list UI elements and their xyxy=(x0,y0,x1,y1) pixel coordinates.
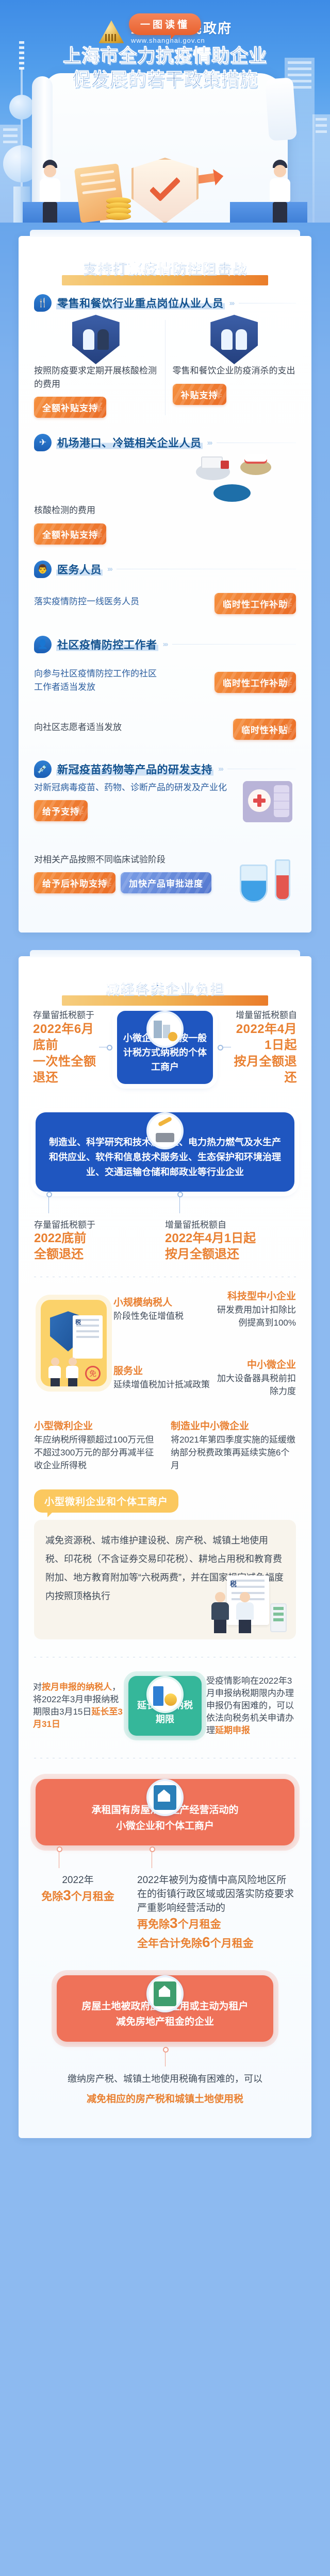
highlight-text: 延期申报 xyxy=(215,1725,250,1735)
robot-arm-icon xyxy=(146,1112,184,1149)
block-vat-industries: 制造业、科学研究和技术服务业、电力热力燃气及水生产和供应业、软件和信息技术服务业… xyxy=(19,1086,311,1262)
value-text: 一次性全额退还 xyxy=(33,1054,97,1086)
property-tax-note: 缴纳房产税、城镇土地使用税确有困难的，可以 减免相应的房产税和城镇土地使用税 xyxy=(19,2042,311,2107)
pill-label: 临时性补贴 xyxy=(241,725,288,735)
subsidy-pill: 临时性补贴 ¥ xyxy=(233,719,296,740)
lab-flask-illustration xyxy=(234,853,296,917)
group-retail-catering: 🍴 零售和餐饮行业重点岗位从业人员 ››› xyxy=(19,281,311,312)
approval-pill: 加快产品审批进度 xyxy=(121,872,211,893)
group-items: 核酸检测的费用 全额补贴支持 ¥ xyxy=(19,451,311,547)
quad-item-tech-sme: 科技型中小企业 研发费用加计扣除比例提高到100% xyxy=(217,1289,296,1329)
group-heading: 机场港口、冷链相关企业人员 xyxy=(56,435,203,450)
filing-left-info: 对按月申报的纳税人，将2022年3月申报纳税期限由3月15日延长至3月31日 xyxy=(33,1681,124,1730)
subsidy-pill: 全额补贴支持 ¥ xyxy=(34,523,106,545)
pill-label: 加快产品审批进度 xyxy=(129,879,203,889)
community-worker-icon: 👤 xyxy=(34,636,52,653)
value-text: 按月全额退还 xyxy=(233,1054,297,1086)
list-item: 零售和餐饮企业防疫消杀的支出 补贴支持 ¥ xyxy=(173,315,296,420)
block-income-tax-pair: 小型微利企业 年应纳税所得额超过100万元但不超过300万元的部分再减半征收企业… xyxy=(19,1398,311,1472)
group-vaccine-rnd: 💉 新冠疫苗药物等产品的研发支持 ››› xyxy=(19,747,311,778)
item-text: 按照防疫要求定期开展核酸检测的费用 xyxy=(34,364,158,391)
item-title: 科技型中小企业 xyxy=(217,1289,296,1302)
group-items: 向参与社区疫情防控工作的社区工作者适当发放 临时性工作补助 ¥ xyxy=(19,653,311,705)
tag-label: 小型微利企业和个体工商户 xyxy=(34,1489,178,1513)
quad-item-msme: 中小微企业 加大设备器具税前扣除力度 xyxy=(217,1357,296,1398)
value-text: 按月全额退还 xyxy=(165,1246,296,1262)
quad-item-small-profit: 小型微利企业 年应纳税所得额超过100万元但不超过300万元的部分再减半征收企业… xyxy=(34,1418,159,1472)
subsidy-pill: 补贴支持 ¥ xyxy=(173,384,226,405)
connector-line xyxy=(99,1047,112,1047)
value-text: 2022年4月1日起 xyxy=(233,1021,297,1053)
value-number: 3 xyxy=(63,1887,71,1903)
item-title: 中小微企业 xyxy=(217,1357,296,1371)
chevron-right-icon: ››› xyxy=(163,640,168,649)
group-items: 对相关产品按照不同临床试验阶段 给予后补助支持 ¥ 加快产品审批进度 xyxy=(19,850,311,917)
pin-item: 增量留抵税额自 2022年4月1日起 按月全额退还 xyxy=(165,1196,296,1262)
yen-icon: ¥ xyxy=(215,386,223,402)
item-desc: 年应纳税所得额超过100万元但不超过300万元的部分再减半征收企业所得税 xyxy=(34,1434,159,1472)
group-items: 对新冠病毒疫苗、药物、诊断产品的研发及产业化 给予支持 ¥ xyxy=(19,778,311,850)
lease-scroll-icon xyxy=(146,1779,184,1816)
subsidy-pill: 临时性工作补助 ¥ xyxy=(214,672,296,693)
yen-icon: ¥ xyxy=(95,399,103,415)
highlight-text: 按月申报的纳税人 xyxy=(42,1682,112,1692)
vat-right-info: 增量留抵税额自 2022年4月1日起 按月全额退还 xyxy=(233,1009,297,1086)
nucleic-test-illustration xyxy=(34,315,158,364)
chevron-right-icon: ››› xyxy=(107,565,112,573)
block-six-tax-two-fee: 小型微利企业和个体工商户 减免资源税、城市维护建设税、房产税、城镇土地使用税、印… xyxy=(19,1472,311,1639)
lead-text: 2022年被列为疫情中高风险地区所在的街镇行政区域或因落实防疫要求严重影响经营活… xyxy=(137,1872,296,1914)
item-title: 服务业 xyxy=(113,1363,217,1377)
disinfection-illustration xyxy=(173,315,296,364)
fork-knife-icon: 🍴 xyxy=(34,294,52,312)
coins-illustration xyxy=(106,199,131,219)
value-suffix: 个月租金 xyxy=(71,1891,114,1903)
filing-right-info: 受疫情影响在2022年3月申报纳税期限内办理申报仍有困难的，可以依法向税务机关申… xyxy=(206,1675,297,1736)
shanghai-emblem-icon xyxy=(98,20,125,46)
yen-icon: ¥ xyxy=(285,721,293,737)
note-plain-text: 缴纳房产税、城镇土地使用税确有困难的，可以 xyxy=(39,2072,291,2087)
pill-label: 临时性工作补助 xyxy=(223,600,288,609)
group-heading: 新冠疫苗药物等产品的研发支持 xyxy=(56,761,213,777)
title-line-1: 上海市全力抗疫情助企业 xyxy=(0,44,330,68)
lead-text: 存量留抵税额于 xyxy=(33,1009,97,1022)
section-2-heading: 减轻各类企业负担 xyxy=(19,978,311,998)
section-1-title: 支持打赢疫情防控阻击战 xyxy=(19,236,311,281)
item-title: 小型微利企业 xyxy=(34,1418,159,1432)
lead-text: 2022年 xyxy=(34,1872,137,1886)
vat-industry-pins: 存量留抵税额于 2022底前 全额退还 增量留抵税额自 2022年4月1日起 按… xyxy=(19,1192,311,1262)
group-airport-port-coldchain: ✈ 机场港口、冷链相关企业人员 ››› xyxy=(19,420,311,451)
city-people-icon xyxy=(146,1011,184,1048)
chevron-right-icon: ››› xyxy=(207,438,212,447)
value-number: 3 xyxy=(170,1915,178,1931)
item-text: 向社区志愿者适当发放 xyxy=(34,721,161,734)
pill-label: 全额补贴支持 xyxy=(42,403,98,413)
group-heading: 社区疫情防控工作者 xyxy=(56,637,158,652)
quad-center-card: 税 免 xyxy=(34,1300,113,1386)
list-item: 向参与社区疫情防控工作的社区工作者适当发放 xyxy=(34,667,161,693)
plain-text: 对 xyxy=(33,1682,42,1692)
value-suffix: 个月租金 xyxy=(178,1919,221,1930)
pin-item: 存量留抵税额于 2022底前 全额退还 xyxy=(34,1196,165,1262)
group-heading: 零售和餐饮行业重点岗位从业人员 xyxy=(56,295,225,311)
list-item: 落实疫情防控一线医务人员 xyxy=(34,595,161,608)
syringe-icon: 💉 xyxy=(34,760,52,778)
pill-holder: 临时性补贴 ¥ xyxy=(169,713,296,742)
value-suffix: 个月租金 xyxy=(210,1938,254,1950)
item-desc: 阶段性免征增值税 xyxy=(113,1310,217,1323)
yen-icon: ¥ xyxy=(285,674,293,690)
list-item: 对新冠病毒疫苗、药物、诊断产品的研发及产业化 给予支持 ¥ xyxy=(34,781,232,850)
item-desc: 延续增值税加计抵减政策 xyxy=(113,1379,217,1392)
block-filing-extension: 对按月申报的纳税人，将2022年3月申报纳税期限由3月15日延长至3月31日 延… xyxy=(19,1657,311,1736)
item-text: 零售和餐饮企业防疫消杀的支出 xyxy=(173,364,296,378)
group-items: 落实疫情防控一线医务人员 临时性工作补助 ¥ xyxy=(19,578,311,622)
lead-text: 对按月申报的纳税人，将2022年3月申报纳税期限由3月15日延长至3月31日 xyxy=(33,1681,124,1730)
yen-icon: ¥ xyxy=(95,526,103,542)
org-website: www.shanghai.gov.cn xyxy=(131,37,232,44)
value-text: 全年合计免除6个月租金 xyxy=(137,1933,296,1952)
chevron-right-icon: ››› xyxy=(229,299,234,308)
pill-label: 临时性工作补助 xyxy=(223,679,288,688)
list-item: 核酸检测的费用 全额补贴支持 ¥ xyxy=(34,454,161,547)
pill-holder: 临时性工作补助 ¥ xyxy=(169,587,296,617)
logistics-illustration xyxy=(169,454,296,547)
value-text: 全额退还 xyxy=(34,1246,165,1262)
read-badge: 一图读懂 xyxy=(129,13,201,35)
value-number: 6 xyxy=(202,1934,210,1950)
value-text: 免除3个月租金 xyxy=(34,1886,137,1905)
pill-label: 全额补贴支持 xyxy=(42,530,98,540)
tax-people-illustration: 税 xyxy=(209,1571,287,1632)
item-desc: 加大设备器具税前扣除力度 xyxy=(217,1372,296,1398)
item-desc: 研发费用加计扣除比例提高到100% xyxy=(217,1304,296,1329)
value-text: 2022年4月1日起 xyxy=(165,1230,296,1246)
subsidy-pill: 给予后补助支持 ¥ xyxy=(34,872,115,893)
hero-banner: 上海市人民政府 www.shanghai.gov.cn 一图读懂 上海市全力抗疫… xyxy=(0,0,330,223)
section-1-heading: 支持打赢疫情防控阻击战 xyxy=(19,258,311,278)
block-vat-small-business: 存量留抵税额于 2022年6月底前 一次性全额退还 小微企业以及按一般计税方式纳… xyxy=(19,1001,311,1086)
quad-item-manufacturing-msme: 制造业中小微企业 将2021年第四季度实施的延缓缴纳部分税费政策再延续实施6个月 xyxy=(171,1418,296,1472)
item-text: 向参与社区疫情防控工作的社区工作者适当发放 xyxy=(34,667,161,693)
lead-text: 存量留抵税额于 xyxy=(34,1217,165,1230)
group-items: 按照防疫要求定期开展核酸检测的费用 全额补贴支持 ¥ 零售和餐饮企业防疫消杀的支… xyxy=(19,312,311,420)
lead-text: 增量留抵税额自 xyxy=(165,1217,296,1230)
yen-icon: ¥ xyxy=(77,803,85,819)
subsidy-pill: 全额补贴支持 ¥ xyxy=(34,397,106,418)
hub-line-2: 减免房地产租金的企业 xyxy=(68,2014,262,2030)
list-item: 按照防疫要求定期开展核酸检测的费用 全额补贴支持 ¥ xyxy=(34,315,158,420)
item-title: 制造业中小微企业 xyxy=(171,1418,296,1432)
group-community-workers: 👤 社区疫情防控工作者 ››› xyxy=(19,622,311,653)
pill-label: 给予支持 xyxy=(42,807,79,817)
group-heading: 医务人员 xyxy=(56,562,103,577)
block-property-tax-relief: 房屋土地被政府应急征用或主动为租户 减免房地产租金的企业 缴纳房产税、城镇土地使… xyxy=(19,1952,311,2107)
rent-relief-pins: 2022年 免除3个月租金 2022年被列为疫情中高风险地区所在的街镇行政区域或… xyxy=(19,1845,311,1952)
item-text: 对相关产品按照不同临床试验阶段 xyxy=(34,853,227,867)
section-reduce-burden: 减轻各类企业负担 存量留抵税额于 2022年6月底前 一次性全额退还 小微企业以… xyxy=(19,956,311,2138)
title-line-2: 促发展的若干政策措施 xyxy=(0,68,330,92)
doctor-icon: 👨 xyxy=(34,561,52,578)
lead-text: 增量留抵税额自 xyxy=(233,1009,297,1022)
list-item: 对相关产品按照不同临床试验阶段 给予后补助支持 ¥ 加快产品审批进度 xyxy=(34,853,227,917)
property-deed-icon xyxy=(146,1975,184,2012)
value-text: 2022年6月底前 xyxy=(33,1021,97,1053)
page-title: 上海市全力抗疫情助企业 促发展的若干政策措施 xyxy=(0,44,330,91)
airplane-icon: ✈ xyxy=(34,434,52,451)
section-2-title: 减轻各类企业负担 xyxy=(19,956,311,1001)
item-text: 落实疫情防控一线医务人员 xyxy=(34,595,161,608)
group-items: 向社区志愿者适当发放 临时性补贴 ¥ xyxy=(19,705,311,747)
pin-item: 2022年被列为疫情中高风险地区所在的街镇行政区域或因落实防疫要求严重影响经营活… xyxy=(137,1851,296,1952)
value-text: 再免除3个月租金 xyxy=(137,1914,296,1933)
person-illustration xyxy=(36,160,64,222)
person-illustration xyxy=(266,160,294,222)
vat-left-info: 存量留抵税额于 2022年6月底前 一次性全额退还 xyxy=(33,1009,97,1086)
chevron-right-icon: ››› xyxy=(218,765,223,773)
section-epidemic-support: 支持打赢疫情防控阻击战 🍴 零售和餐饮行业重点岗位从业人员 ››› 按照防疫要求… xyxy=(19,236,311,933)
connector-line xyxy=(218,1047,231,1047)
hero-artwork xyxy=(0,156,330,223)
value-prefix: 免除 xyxy=(41,1891,63,1903)
quad-item-services: 服务业 延续增值税加计抵减政策 xyxy=(113,1363,217,1392)
group-medical-staff: 👨 医务人员 ››› xyxy=(19,547,311,578)
building-coin-icon xyxy=(146,1676,184,1713)
item-desc: 将2021年第四季度实施的延缓缴纳部分税费政策再延续实施6个月 xyxy=(171,1434,296,1472)
quad-item-small-taxpayer: 小规模纳税人 阶段性免征增值税 xyxy=(113,1295,217,1323)
lead-text: 受疫情影响在2022年3月申报纳税期限内办理申报仍有困难的，可以依法向税务机关申… xyxy=(206,1675,297,1736)
pill-holder: 临时性工作补助 ¥ xyxy=(169,666,296,696)
item-text: 对新冠病毒疫苗、药物、诊断产品的研发及产业化 xyxy=(34,781,232,794)
value-prefix: 全年合计免除 xyxy=(137,1938,202,1950)
pill-label: 补贴支持 xyxy=(181,391,218,400)
item-text: 核酸检测的费用 xyxy=(34,504,161,517)
yen-icon: ¥ xyxy=(105,875,112,891)
yen-icon: ¥ xyxy=(285,596,293,612)
subsidy-pill: 临时性工作补助 ¥ xyxy=(214,593,296,614)
note-highlight-text: 减免相应的房产税和城镇土地使用税 xyxy=(39,2092,291,2107)
hub-line-2: 小微企业和个体工商户 xyxy=(47,1819,283,1834)
item-title: 小规模纳税人 xyxy=(113,1295,217,1309)
value-prefix: 再免除 xyxy=(137,1919,170,1930)
medicine-illustration xyxy=(239,781,296,850)
block-tax-relief-quad: 小规模纳税人 阶段性免征增值税 税 免 科技型中小企业 研发费用加计扣除比例提高… xyxy=(19,1277,311,1398)
subsidy-pill: 给予支持 ¥ xyxy=(34,800,88,821)
block-state-rent-relief: 承租国有房屋从事生产经营活动的 小微企业和个体工商户 2022年 免除3个月租金… xyxy=(19,1758,311,1952)
value-text: 2022底前 xyxy=(34,1230,165,1246)
list-item: 向社区志愿者适当发放 xyxy=(34,721,161,734)
pin-item: 2022年 免除3个月租金 xyxy=(34,1851,137,1952)
handshake-tax-icon: 税 免 xyxy=(41,1300,107,1386)
pill-label: 给予后补助支持 xyxy=(42,879,107,889)
